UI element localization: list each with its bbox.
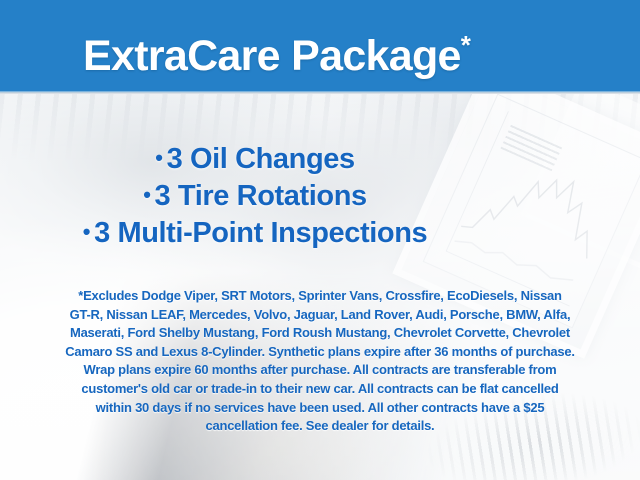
benefit-item: •3 Tire Rotations [0, 177, 510, 214]
bullet-icon: • [83, 219, 90, 244]
disclaimer-line: Maserati, Ford Shelby Mustang, Ford Rous… [36, 324, 603, 343]
bullet-icon: • [155, 145, 162, 170]
extracare-package-ad: ExtraCare Package* •3 Oil Changes •3 Tir… [0, 0, 640, 480]
disclaimer-line: GT-R, Nissan LEAF, Mercedes, Volvo, Jagu… [36, 306, 603, 325]
disclaimer-line: Camaro SS and Lexus 8-Cylinder. Syntheti… [36, 343, 603, 362]
benefit-item: •3 Oil Changes [0, 140, 510, 177]
disclaimer-line: within 30 days if no services have been … [36, 399, 603, 418]
disclaimer-line: Wrap plans expire 60 months after purcha… [36, 361, 603, 380]
disclaimer-line: cancellation fee. See dealer for details… [36, 417, 603, 436]
benefit-label: 3 Tire Rotations [155, 180, 367, 212]
benefit-label: 3 Multi-Point Inspections [94, 217, 427, 249]
header-banner: ExtraCare Package* [0, 0, 640, 91]
page-title: ExtraCare Package* [83, 14, 471, 87]
benefits-list: •3 Oil Changes •3 Tire Rotations •3 Mult… [0, 140, 640, 251]
disclaimer-line: customer's old car or trade-in to their … [36, 380, 603, 399]
bullet-icon: • [143, 182, 150, 207]
disclaimer-text: *Excludes Dodge Viper, SRT Motors, Sprin… [32, 287, 608, 436]
benefit-item: •3 Multi-Point Inspections [0, 214, 510, 251]
disclaimer-line: *Excludes Dodge Viper, SRT Motors, Sprin… [36, 287, 603, 306]
benefit-label: 3 Oil Changes [167, 143, 355, 175]
header-underline [0, 91, 640, 94]
page-title-asterisk: * [461, 30, 471, 60]
page-title-text: ExtraCare Package [83, 32, 461, 80]
